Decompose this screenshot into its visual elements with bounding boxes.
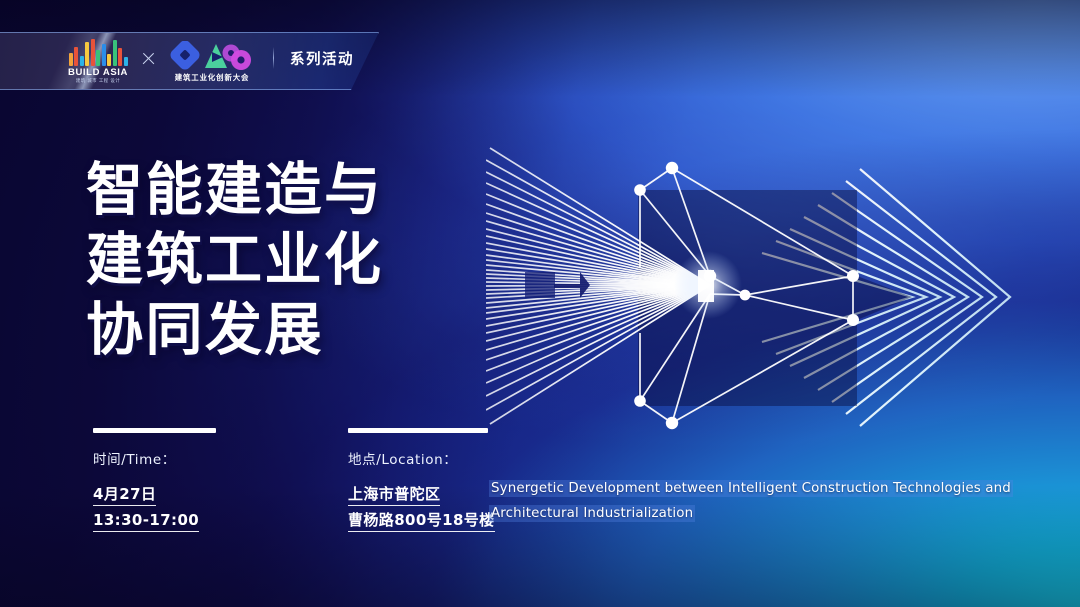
time-accent-bar [93, 428, 216, 433]
poster-canvas: BUILD ASIA 建筑 城市 工程 设计 建筑 [0, 0, 1080, 607]
build-asia-subtext: 建筑 城市 工程 设计 [76, 79, 120, 83]
time-block: 时间/Time： 4月27日 13:30-17:00 [93, 428, 268, 536]
build-asia-wordmark: BUILD ASIA [68, 68, 128, 78]
conference-logo-icon [169, 41, 255, 71]
cross-icon [141, 51, 156, 66]
english-subtitle-text: Synergetic Development between Intellige… [489, 480, 1013, 522]
title-line-1: 智能建造与 [86, 155, 384, 225]
title-line-3: 协同发展 [86, 295, 384, 365]
conference-wordmark: 建筑工业化创新大会 [175, 74, 250, 81]
location-line-2: 曹杨路800号18号楼 [348, 510, 495, 532]
location-line-1: 上海市普陀区 [348, 484, 440, 506]
title-line-2: 建筑工业化 [86, 225, 384, 295]
page-title: 智能建造与 建筑工业化 协同发展 [86, 155, 384, 365]
time-label: 时间/Time： [93, 448, 268, 468]
location-label: 地点/Location： [348, 448, 523, 468]
build-asia-bars-icon [69, 39, 128, 66]
location-accent-bar [348, 428, 488, 433]
english-subtitle: Synergetic Development between Intellige… [489, 476, 1011, 526]
series-label: 系列活动 [290, 48, 354, 69]
event-details: 时间/Time： 4月27日 13:30-17:00 地点/Location： … [93, 428, 523, 536]
conference-logo[interactable]: 建筑工业化创新大会 [169, 41, 255, 81]
header-divider [273, 47, 274, 69]
time-hours: 13:30-17:00 [93, 510, 199, 532]
header-logo-band: BUILD ASIA 建筑 城市 工程 设计 建筑 [0, 32, 379, 90]
time-date: 4月27日 [93, 484, 156, 506]
build-asia-logo[interactable]: BUILD ASIA 建筑 城市 工程 设计 [68, 39, 128, 83]
